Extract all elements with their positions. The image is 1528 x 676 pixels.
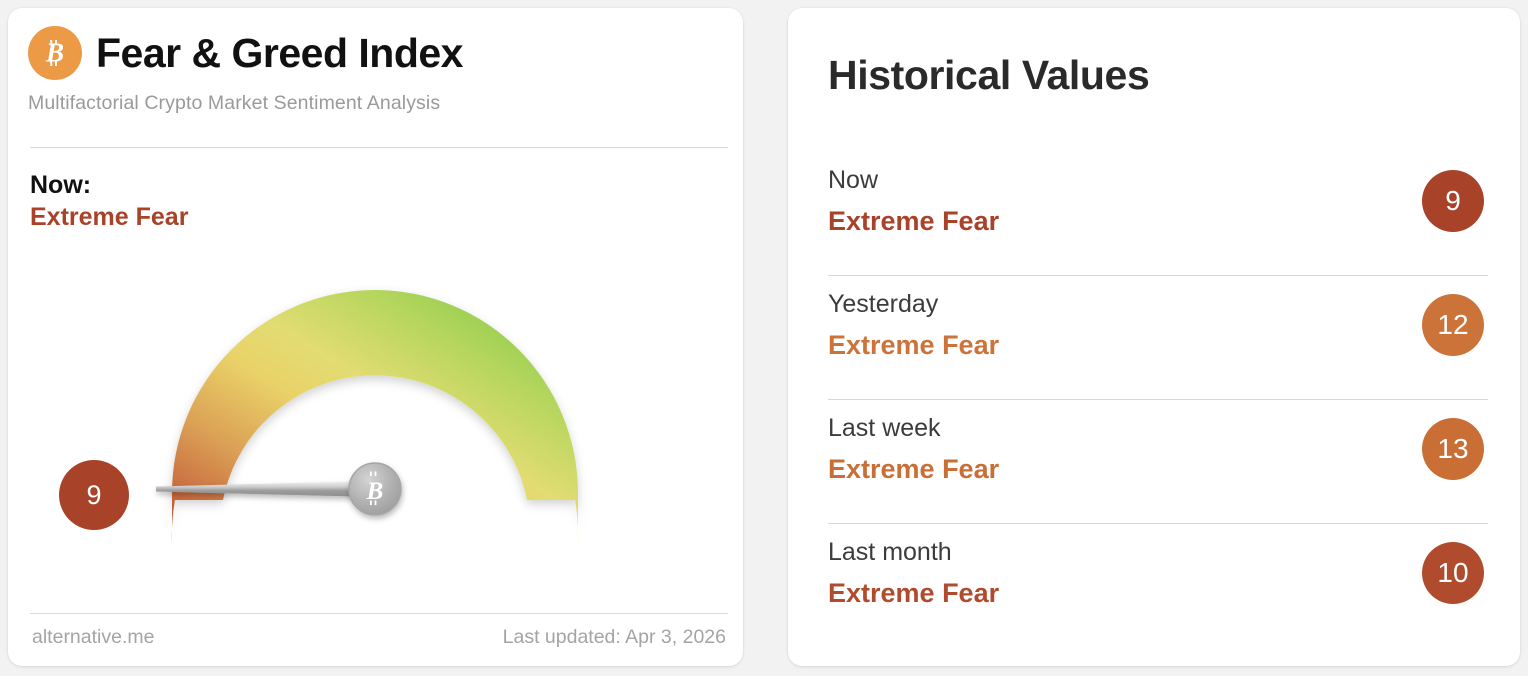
list-item: Last week Extreme Fear 13: [828, 400, 1488, 524]
page-subtitle: Multifactorial Crypto Market Sentiment A…: [28, 92, 728, 115]
footer-divider: [30, 613, 728, 614]
history-classification: Extreme Fear: [828, 330, 999, 361]
historical-values-title: Historical Values: [828, 52, 1149, 99]
bitcoin-icon: B: [28, 26, 82, 80]
list-item: Last month Extreme Fear 10: [828, 524, 1488, 648]
list-item: Yesterday Extreme Fear 12: [828, 276, 1488, 400]
fear-greed-gauge-card: B Fear & Greed Index Multifactorial Cryp…: [8, 8, 743, 666]
history-period: Now: [828, 166, 878, 195]
gauge-chart: B: [8, 238, 743, 598]
history-period: Yesterday: [828, 290, 938, 319]
source-label: alternative.me: [32, 626, 154, 649]
list-item: Now Extreme Fear 9: [828, 152, 1488, 276]
history-classification: Extreme Fear: [828, 578, 999, 609]
historical-values-card: Historical Values Now Extreme Fear 9 Yes…: [788, 8, 1520, 666]
history-classification: Extreme Fear: [828, 454, 999, 485]
last-updated-label: Last updated: Apr 3, 2026: [503, 626, 726, 649]
svg-text:B: B: [366, 478, 384, 505]
gauge-value-badge: 9: [59, 460, 129, 530]
history-period: Last month: [828, 538, 952, 567]
status-badge: 12: [1422, 294, 1484, 356]
historical-values-list: Now Extreme Fear 9 Yesterday Extreme Fea…: [828, 152, 1488, 648]
history-period: Last week: [828, 414, 941, 443]
now-label: Now:: [30, 171, 188, 201]
status-badge: 9: [1422, 170, 1484, 232]
page-root: B Fear & Greed Index Multifactorial Cryp…: [0, 0, 1528, 676]
status-badge: 13: [1422, 418, 1484, 480]
now-classification: Extreme Fear: [30, 203, 188, 233]
now-block: Now: Extreme Fear: [30, 171, 188, 232]
history-classification: Extreme Fear: [828, 206, 999, 237]
status-badge: 10: [1422, 542, 1484, 604]
header-divider: [30, 147, 728, 148]
title-row: B Fear & Greed Index: [28, 26, 728, 80]
gauge-card-footer: alternative.me Last updated: Apr 3, 2026: [32, 626, 726, 649]
svg-text:B: B: [45, 38, 64, 68]
page-title: Fear & Greed Index: [96, 33, 463, 74]
gauge-card-header: B Fear & Greed Index Multifactorial Cryp…: [28, 26, 728, 115]
